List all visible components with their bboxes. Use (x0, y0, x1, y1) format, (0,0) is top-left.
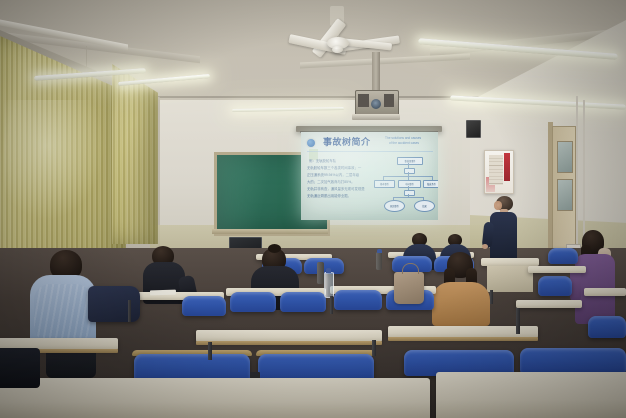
podium-desk-leg (490, 290, 493, 304)
desk-leg-3 (128, 300, 131, 322)
desk-row-closest-right (436, 372, 626, 418)
desk-edge-front-right (388, 337, 538, 341)
tree-node-child-3: 触发条件 (423, 180, 438, 188)
presenter-hand (482, 244, 488, 249)
slide-logo-square (309, 149, 318, 160)
slide-body-line-5: 无轨并非商查，通风量多无现可发现是 (307, 186, 365, 191)
water-bottle-center-cap (326, 268, 331, 273)
tree-node-leaf-1: 原因事件 (384, 200, 405, 212)
classroom-photo: 事故树简介 The solutions and causes of the ac… (0, 0, 626, 418)
tree-branch-4 (393, 197, 394, 200)
thermos-bottle-2-cap (377, 249, 382, 253)
light-hanger-left (86, 46, 87, 74)
thermos-bottle-2 (376, 252, 382, 270)
door-glass-lower (557, 179, 573, 211)
wall-speaker (466, 120, 481, 138)
seat-right-col-1 (548, 248, 578, 264)
chalk-tray (212, 229, 328, 234)
podium-desk-panel (487, 266, 533, 292)
seat-mid-1 (230, 292, 276, 312)
poster-red-band (504, 153, 510, 181)
tree-branch-3 (432, 176, 433, 180)
desk-leg-2 (372, 340, 376, 356)
tree-node-leaf-2: 结果 (414, 200, 435, 212)
projector-lens (371, 99, 381, 109)
seat-mid-5 (182, 296, 226, 316)
seat-right-col-3 (588, 316, 626, 338)
tree-branch-1 (383, 176, 384, 180)
attendee-1-shirt-folds (34, 284, 92, 342)
slide-body-line-1: 例：无轨胶轮车队 (309, 158, 336, 163)
foreground-dark-edge (0, 348, 40, 388)
thermos-bottle (317, 262, 324, 284)
tree-connector-gate2-down (408, 194, 409, 197)
tree-node-child-1: 基本事件 (374, 180, 395, 188)
tree-branch-5 (423, 197, 424, 200)
curtain-light-glow (4, 100, 112, 230)
slide-title-rule (307, 151, 433, 152)
slide-logo-icon (307, 139, 315, 147)
attendee-3-hair-bun (268, 244, 281, 253)
desk-edge-front-center (196, 341, 382, 345)
desk-leg-5 (330, 296, 333, 314)
draped-jacket (88, 286, 140, 322)
paper-on-desk (150, 290, 176, 296)
desk-row-closest (0, 378, 430, 418)
slide-body-line-4: 大的；二次加气致商与打85%。 (307, 179, 354, 184)
projector-vent-right (384, 94, 394, 107)
seat-right-col-2 (538, 276, 572, 296)
seat-front-4 (520, 348, 626, 374)
slide-body-line-2: 无轨胶轮车数三个各类时间事故；一 (307, 165, 361, 170)
tree-node-root: 事故顶事件 (397, 157, 423, 165)
slide-title: 事故树简介 (323, 137, 371, 148)
tree-connector-child2-down (408, 186, 409, 190)
tree-node-child-2: 中间事件 (398, 180, 421, 188)
projection-screen: 事故树简介 The solutions and causes of the ac… (301, 132, 438, 220)
fan-light-cap (332, 46, 343, 53)
desk-leg-1 (208, 342, 212, 360)
projector-vent-left (358, 94, 369, 107)
window-curtains-far (112, 64, 158, 244)
seat-mid-2 (280, 292, 326, 312)
attendee-6-torso (432, 282, 490, 326)
poster-grid (489, 155, 503, 185)
water-bottle-center (324, 272, 334, 298)
desk-right-col-3 (584, 288, 626, 296)
slide-body-line-6: 无轨通近涮脱出用能停业限。 (307, 193, 351, 198)
desk-right-col-1 (528, 266, 586, 273)
desk-right-col-2 (516, 300, 582, 308)
wall-conduit-vertical-2 (583, 100, 585, 246)
projector-pole (372, 52, 380, 94)
projector-tray (352, 114, 400, 120)
tree-gate-1 (404, 168, 415, 174)
presenter-torso (490, 212, 517, 262)
tree-connector-bus-1 (383, 176, 433, 177)
podium-desk-top (481, 258, 539, 266)
slide-subtitle-line-1: The solutions and causes (385, 136, 421, 140)
tree-connector-root-down (408, 163, 409, 168)
tree-gate-2 (404, 190, 415, 196)
slide-subtitle-line-2: of the accident cases (389, 141, 419, 145)
door-glass-upper (557, 141, 573, 173)
seat-mid-3 (334, 290, 382, 310)
wall-poster (484, 150, 514, 194)
desk-leg-4 (516, 308, 520, 334)
handbag-handle (402, 263, 419, 274)
tree-branch-2 (408, 176, 409, 180)
handbag (394, 272, 424, 304)
wall-conduit-vertical (576, 96, 578, 246)
tree-connector-gate1-down (408, 172, 409, 176)
slide-body-line-3: 正压通系统99.94%以内，二层年级 (307, 172, 359, 177)
tree-connector-bus-2 (393, 197, 424, 198)
